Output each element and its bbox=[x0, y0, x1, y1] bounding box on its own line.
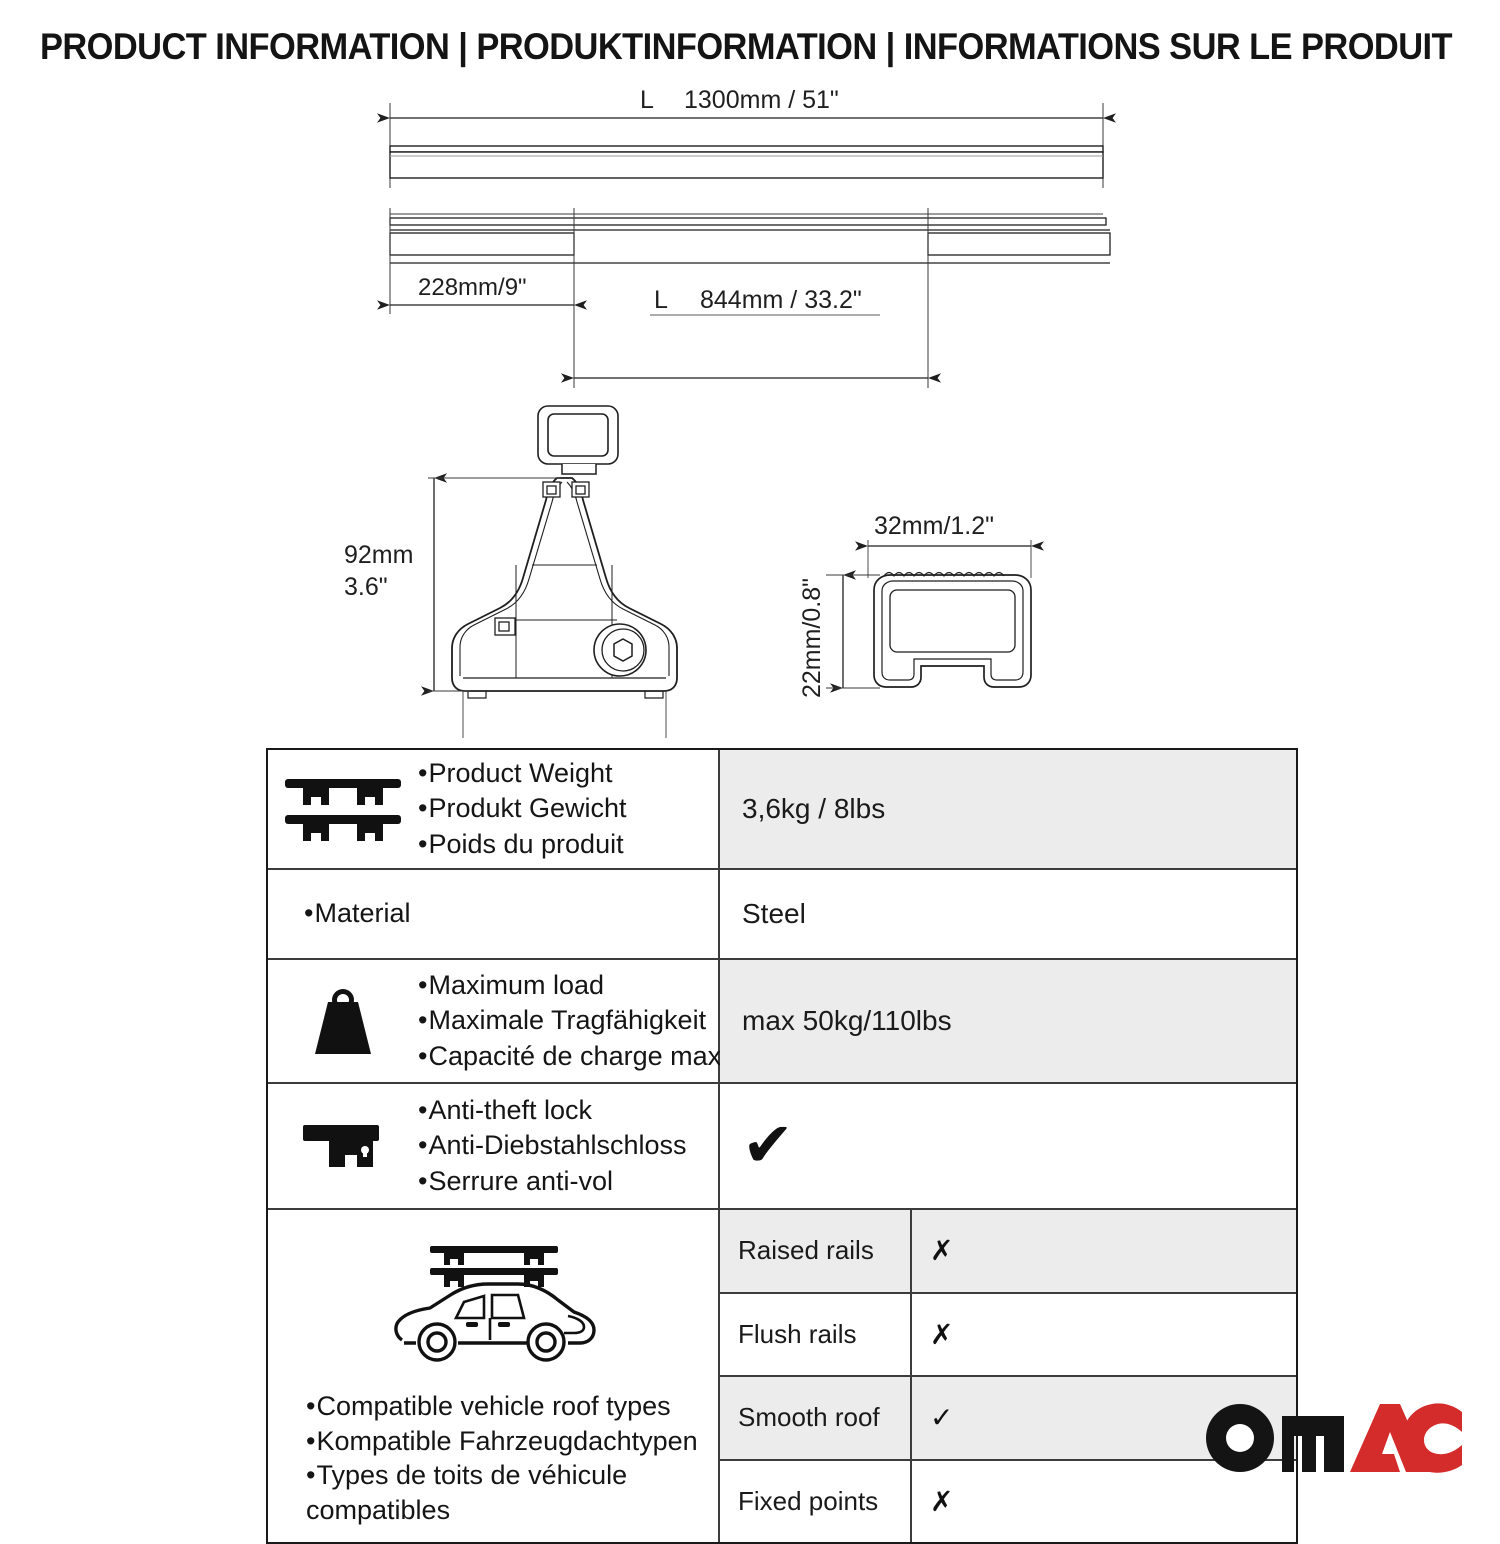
spec-label-line: Produkt Gewicht bbox=[418, 791, 627, 826]
status-check: ✔ bbox=[742, 1115, 794, 1177]
table-row: Anti-theft lock Anti-Diebstahlschloss Se… bbox=[268, 1084, 1296, 1210]
logo-letter-o bbox=[1206, 1404, 1274, 1472]
span-value: 844mm / 33.2" bbox=[700, 286, 862, 314]
spec-labels: Anti-theft lock Anti-Diebstahlschloss Se… bbox=[418, 1093, 687, 1198]
foot-height-line2: 3.6" bbox=[344, 573, 388, 601]
spec-label-cell: Maximum load Maximale Tragfähigkeit Capa… bbox=[268, 960, 720, 1082]
compat-matrix: Raised rails ✗ Flush rails ✗ Smooth roof… bbox=[720, 1210, 1296, 1542]
compat-row: Flush rails ✗ bbox=[720, 1294, 1296, 1378]
compat-row: Raised rails ✗ bbox=[720, 1210, 1296, 1294]
spec-label-line: Poids du produit bbox=[418, 827, 627, 862]
compat-type-name: Smooth roof bbox=[720, 1377, 912, 1459]
spec-labels: Product Weight Produkt Gewicht Poids du … bbox=[418, 756, 627, 861]
spec-label-line: Serrure anti-vol bbox=[418, 1164, 687, 1199]
omac-logo bbox=[1204, 1398, 1464, 1474]
compat-type-name: Flush rails bbox=[720, 1294, 912, 1376]
compat-label-line: Types de toits de véhicule compatibles bbox=[306, 1458, 706, 1527]
technical-drawing: L 1300mm / 51" 228mm/9" L 844mm / 33.2" … bbox=[0, 78, 1500, 738]
product-information-page: PRODUCT INFORMATION | PRODUKTINFORMATION… bbox=[0, 0, 1500, 1500]
table-row: Product Weight Produkt Gewicht Poids du … bbox=[268, 750, 1296, 870]
compat-type-name: Raised rails bbox=[720, 1210, 912, 1292]
span-prefix: L bbox=[654, 286, 668, 314]
bar-length-prefix: L bbox=[640, 86, 654, 114]
spec-label-line: Anti-Diebstahlschloss bbox=[418, 1128, 687, 1163]
spec-label-line: Material bbox=[304, 896, 410, 931]
compat-type-name: Fixed points bbox=[720, 1461, 912, 1543]
spec-value: max 50kg/110lbs bbox=[720, 960, 1296, 1082]
table-row: Material Steel bbox=[268, 870, 1296, 960]
spec-value: 3,6kg / 8lbs bbox=[720, 750, 1296, 868]
foot-offset-value: 228mm/9" bbox=[418, 274, 527, 301]
spec-label-cell: Anti-theft lock Anti-Diebstahlschloss Se… bbox=[268, 1084, 720, 1208]
table-row: Maximum load Maximale Tragfähigkeit Capa… bbox=[268, 960, 1296, 1084]
spec-label-cell: Material bbox=[268, 870, 720, 958]
profile-height-value: 22mm/0.8" bbox=[798, 578, 826, 698]
logo-letter-m bbox=[1282, 1416, 1344, 1472]
table-row: Compatible vehicle roof types Kompatible… bbox=[268, 1210, 1296, 1542]
spec-label-cell: Product Weight Produkt Gewicht Poids du … bbox=[268, 750, 720, 868]
lock-icon bbox=[268, 1113, 418, 1179]
page-title: PRODUCT INFORMATION | PRODUKTINFORMATION… bbox=[40, 26, 1370, 68]
compat-labels: Compatible vehicle roof types Kompatible… bbox=[268, 1389, 706, 1527]
profile-width-value: 32mm/1.2" bbox=[874, 512, 994, 540]
crossbars-icon bbox=[268, 773, 418, 845]
compat-type-status: ✗ bbox=[912, 1294, 1296, 1376]
weight-icon bbox=[268, 980, 418, 1062]
spec-value: Steel bbox=[720, 870, 1296, 958]
spec-labels: Material bbox=[304, 896, 410, 931]
compat-type-status: ✗ bbox=[912, 1210, 1296, 1292]
foot-height-line1: 92mm bbox=[344, 541, 413, 569]
car-with-roof-bars-icon bbox=[378, 1232, 608, 1379]
specification-table: Product Weight Produkt Gewicht Poids du … bbox=[266, 748, 1298, 1544]
spec-label-line: Anti-theft lock bbox=[418, 1093, 687, 1128]
compat-label-cell: Compatible vehicle roof types Kompatible… bbox=[268, 1210, 720, 1542]
compat-label-line: Compatible vehicle roof types bbox=[306, 1389, 706, 1424]
compat-label-line: Kompatible Fahrzeugdachtypen bbox=[306, 1424, 706, 1459]
spec-value-cell: ✔ bbox=[720, 1084, 1296, 1208]
spec-label-line: Product Weight bbox=[418, 756, 627, 791]
bar-length-value: 1300mm / 51" bbox=[684, 86, 839, 114]
